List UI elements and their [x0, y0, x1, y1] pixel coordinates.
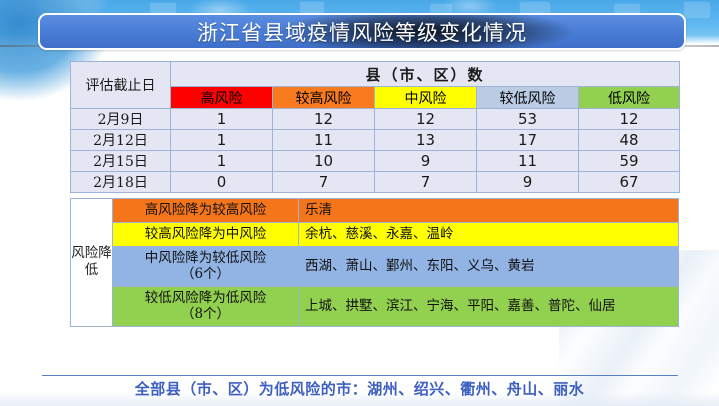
cell-high-risk: 1 [171, 109, 273, 130]
cell-medium-low-risk: 53 [477, 109, 579, 130]
cell-medium-low-risk: 11 [477, 151, 579, 172]
downgrade-places: 西湖、萧山、鄞州、东阳、义乌、黄岩 [299, 246, 679, 286]
col-header-date: 评估截止日 [71, 62, 171, 109]
col-header-medium-risk: 中风险 [375, 87, 477, 109]
cell-medium-high-risk: 10 [273, 151, 375, 172]
cell-medium-high-risk: 12 [273, 109, 375, 130]
cell-high-risk: 1 [171, 151, 273, 172]
table-row: 中风险降为较低风险（6个） 西湖、萧山、鄞州、东阳、义乌、黄岩 [71, 246, 679, 286]
cell-high-risk: 0 [171, 172, 273, 193]
cell-low-risk: 48 [579, 130, 680, 151]
slide-title-bar: 浙江省县域疫情风险等级变化情况 [38, 13, 686, 50]
cell-medium-risk: 7 [375, 172, 477, 193]
downgrade-kind: 中风险降为较低风险（6个） [113, 246, 299, 286]
col-header-county-count: 县（市、区）数 [171, 62, 680, 87]
downgrade-places: 余杭、慈溪、永嘉、温岭 [299, 222, 679, 246]
cell-low-risk: 59 [579, 151, 680, 172]
downgrade-places: 上城、拱墅、滨江、宁海、平阳、嘉善、普陀、仙居 [299, 286, 679, 326]
footer-divider [42, 375, 678, 376]
cell-low-risk: 12 [579, 109, 680, 130]
cell-medium-risk: 13 [375, 130, 477, 151]
table-row: 2月18日 0 7 7 9 67 [71, 172, 680, 193]
table-row: 2月15日 1 10 9 11 59 [71, 151, 680, 172]
table-header-row-1: 评估截止日 县（市、区）数 [71, 62, 680, 87]
cell-medium-low-risk: 9 [477, 172, 579, 193]
table-row: 风险降低 高风险降为较高风险 乐清 [71, 199, 679, 223]
row-date: 2月18日 [71, 172, 171, 193]
slide-canvas: 浙江省县域疫情风险等级变化情况 评估截止日 县（市、区）数 高风险 较高风险 中… [0, 0, 719, 406]
page-title: 浙江省县域疫情风险等级变化情况 [197, 17, 527, 47]
risk-level-statistics-table: 评估截止日 县（市、区）数 高风险 较高风险 中风险 较低风险 低风险 2月9日… [70, 61, 680, 193]
cell-high-risk: 1 [171, 130, 273, 151]
row-date: 2月12日 [71, 130, 171, 151]
cell-medium-risk: 12 [375, 109, 477, 130]
risk-downgrade-table: 风险降低 高风险降为较高风险 乐清 较高风险降为中风险 余杭、慈溪、永嘉、温岭 … [70, 198, 679, 327]
table-row: 2月9日 1 12 12 53 12 [71, 109, 680, 130]
row-date: 2月9日 [71, 109, 171, 130]
cell-low-risk: 67 [579, 172, 680, 193]
table-row: 较低风险降为低风险（8个） 上城、拱墅、滨江、宁海、平阳、嘉善、普陀、仙居 [71, 286, 679, 326]
cell-medium-high-risk: 7 [273, 172, 375, 193]
col-header-medium-high-risk: 较高风险 [273, 87, 375, 109]
col-header-medium-low-risk: 较低风险 [477, 87, 579, 109]
cell-medium-high-risk: 11 [273, 130, 375, 151]
row-header-risk-downgrade: 风险降低 [71, 199, 113, 327]
table-row: 较高风险降为中风险 余杭、慈溪、永嘉、温岭 [71, 222, 679, 246]
col-header-high-risk: 高风险 [171, 87, 273, 109]
col-header-low-risk: 低风险 [579, 87, 680, 109]
cell-medium-risk: 9 [375, 151, 477, 172]
table-row: 2月12日 1 11 13 17 48 [71, 130, 680, 151]
downgrade-kind: 较高风险降为中风险 [113, 222, 299, 246]
downgrade-kind: 高风险降为较高风险 [113, 199, 299, 223]
footer-note: 全部县（市、区）为低风险的市：湖州、绍兴、衢州、舟山、丽水 [0, 378, 719, 399]
row-date: 2月15日 [71, 151, 171, 172]
downgrade-kind: 较低风险降为低风险（8个） [113, 286, 299, 326]
downgrade-places: 乐清 [299, 199, 679, 223]
cell-medium-low-risk: 17 [477, 130, 579, 151]
